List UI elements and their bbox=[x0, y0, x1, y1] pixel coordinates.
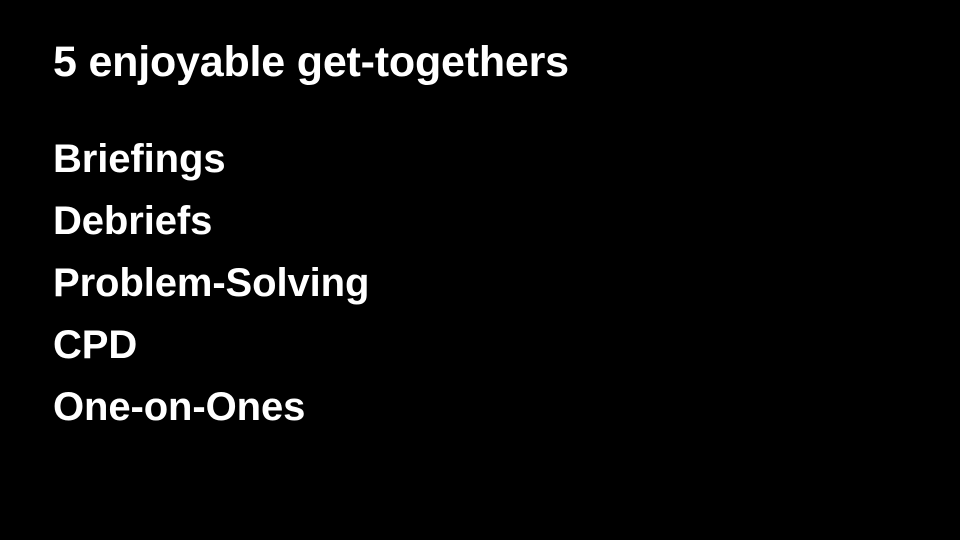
bullet-list: Briefings Debriefs Problem-Solving CPD O… bbox=[53, 128, 369, 438]
page-title: 5 enjoyable get-togethers bbox=[53, 38, 569, 86]
list-item: Debriefs bbox=[53, 190, 369, 252]
list-item: CPD bbox=[53, 314, 369, 376]
list-item: One-on-Ones bbox=[53, 376, 369, 438]
slide-canvas: 5 enjoyable get-togethers Briefings Debr… bbox=[0, 0, 960, 540]
list-item: Problem-Solving bbox=[53, 252, 369, 314]
list-item: Briefings bbox=[53, 128, 369, 190]
